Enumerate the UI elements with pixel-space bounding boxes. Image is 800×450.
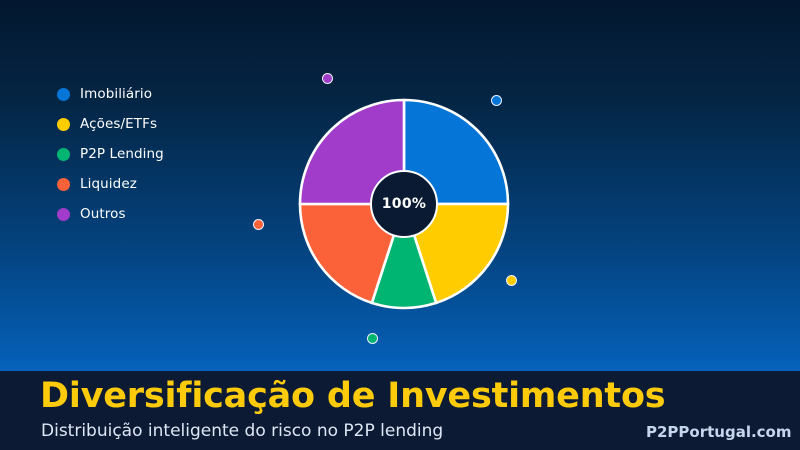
chart-legend: ImobiliárioAções/ETFsP2P LendingLiquidez… [57, 86, 164, 223]
legend-item[interactable]: Ações/ETFs [57, 116, 164, 133]
legend-swatch-icon [57, 148, 70, 161]
page-title: Diversificação de Investimentos [40, 379, 665, 414]
legend-swatch-icon [57, 118, 70, 131]
legend-swatch-icon [57, 208, 70, 221]
legend-item[interactable]: P2P Lending [57, 146, 164, 163]
watermark: P2PPortugal.com [646, 425, 792, 440]
floating-dot-icon [253, 219, 264, 230]
legend-swatch-icon [57, 178, 70, 191]
floating-dot-icon [322, 73, 333, 84]
legend-item-label: Ações/ETFs [80, 118, 157, 132]
slide-canvas: ImobiliárioAções/ETFsP2P LendingLiquidez… [0, 0, 800, 450]
donut-chart: 100% [298, 98, 510, 310]
floating-dot-icon [491, 95, 502, 106]
donut-center-label: 100% [382, 196, 426, 212]
legend-item-label: Imobiliário [80, 88, 152, 102]
legend-item-label: Liquidez [80, 178, 137, 192]
footer-bar: Diversificação de Investimentos Distribu… [0, 371, 800, 450]
legend-item-label: Outros [80, 208, 126, 222]
floating-dot-icon [506, 275, 517, 286]
donut-center: 100% [370, 170, 438, 238]
floating-dot-icon [367, 333, 378, 344]
legend-item[interactable]: Liquidez [57, 176, 164, 193]
page-subtitle: Distribuição inteligente do risco no P2P… [41, 423, 443, 440]
legend-item[interactable]: Outros [57, 206, 164, 223]
legend-item[interactable]: Imobiliário [57, 86, 164, 103]
legend-swatch-icon [57, 88, 70, 101]
legend-item-label: P2P Lending [80, 148, 164, 162]
